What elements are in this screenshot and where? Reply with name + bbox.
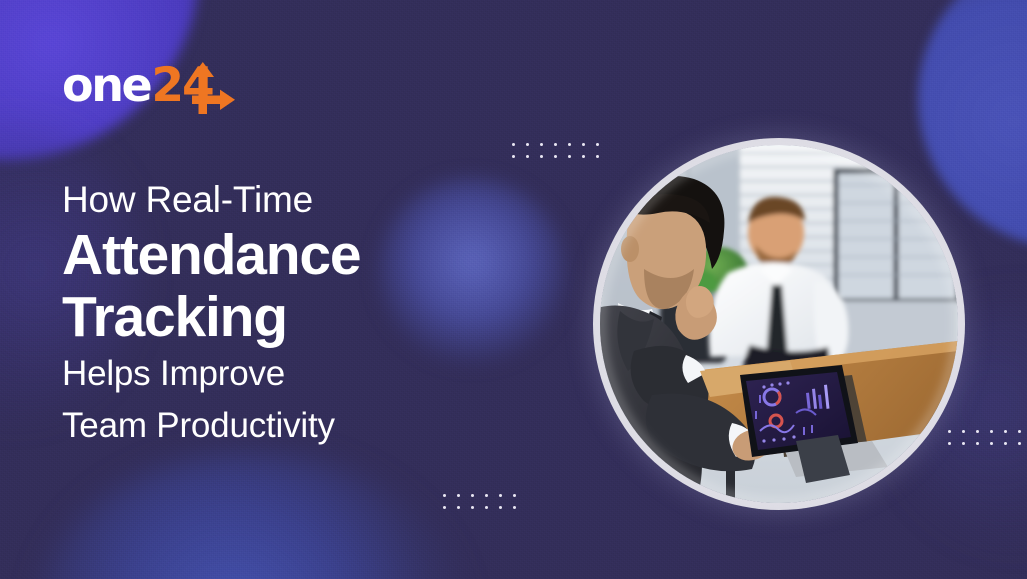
dot xyxy=(499,494,502,497)
dot xyxy=(443,494,446,497)
arrow-right-icon xyxy=(192,89,235,109)
dot xyxy=(512,155,515,158)
dot xyxy=(512,143,515,146)
dot xyxy=(976,442,979,445)
dot xyxy=(457,506,460,509)
logo-arrow-group xyxy=(151,62,237,116)
dot xyxy=(1018,430,1021,433)
dot xyxy=(948,442,951,445)
dot xyxy=(540,155,543,158)
headline-line-4: Helps Improve xyxy=(62,348,532,400)
dot xyxy=(568,143,571,146)
dot xyxy=(499,506,502,509)
dot xyxy=(582,155,585,158)
background-glow-bottom-left xyxy=(36,452,466,579)
logo-wordmark: one xyxy=(62,62,150,108)
headline-line-1: How Real-Time xyxy=(62,176,532,224)
headline-line-2: Attendance xyxy=(62,224,532,286)
dot xyxy=(540,143,543,146)
dot xyxy=(526,143,529,146)
dot xyxy=(526,155,529,158)
dot xyxy=(1004,430,1007,433)
background-glow-top-right xyxy=(918,0,1027,248)
dot xyxy=(457,494,460,497)
page-title: How Real-Time Attendance Tracking Helps … xyxy=(62,176,532,452)
dot xyxy=(554,143,557,146)
dot xyxy=(485,494,488,497)
dot xyxy=(1004,442,1007,445)
dot xyxy=(485,506,488,509)
dot xyxy=(582,143,585,146)
brand-logo[interactable]: one 24 xyxy=(62,58,213,112)
dot xyxy=(596,155,599,158)
hero-banner: one 24 How Real-Time Attendance Tracking… xyxy=(0,0,1027,579)
hero-image xyxy=(600,145,958,503)
dot xyxy=(596,143,599,146)
dot xyxy=(990,442,993,445)
dot-grid-right xyxy=(948,430,1021,445)
dot xyxy=(568,155,571,158)
dot xyxy=(471,494,474,497)
dot xyxy=(962,430,965,433)
office-scene-illustration xyxy=(600,145,958,503)
dot-grid-bottom-left xyxy=(443,494,516,509)
dot xyxy=(554,155,557,158)
dot xyxy=(976,430,979,433)
dot xyxy=(443,506,446,509)
logo-number: 24 xyxy=(151,62,212,109)
arrow-up-icon xyxy=(192,62,214,114)
dot xyxy=(990,430,993,433)
dot xyxy=(513,494,516,497)
dot-grid-top xyxy=(512,143,599,158)
hero-image-frame xyxy=(600,145,958,503)
dot xyxy=(471,506,474,509)
dot xyxy=(962,442,965,445)
headline-line-5: Team Productivity xyxy=(62,400,532,452)
dot xyxy=(948,430,951,433)
headline-line-3: Tracking xyxy=(62,286,532,348)
dot xyxy=(1018,442,1021,445)
dot xyxy=(513,506,516,509)
